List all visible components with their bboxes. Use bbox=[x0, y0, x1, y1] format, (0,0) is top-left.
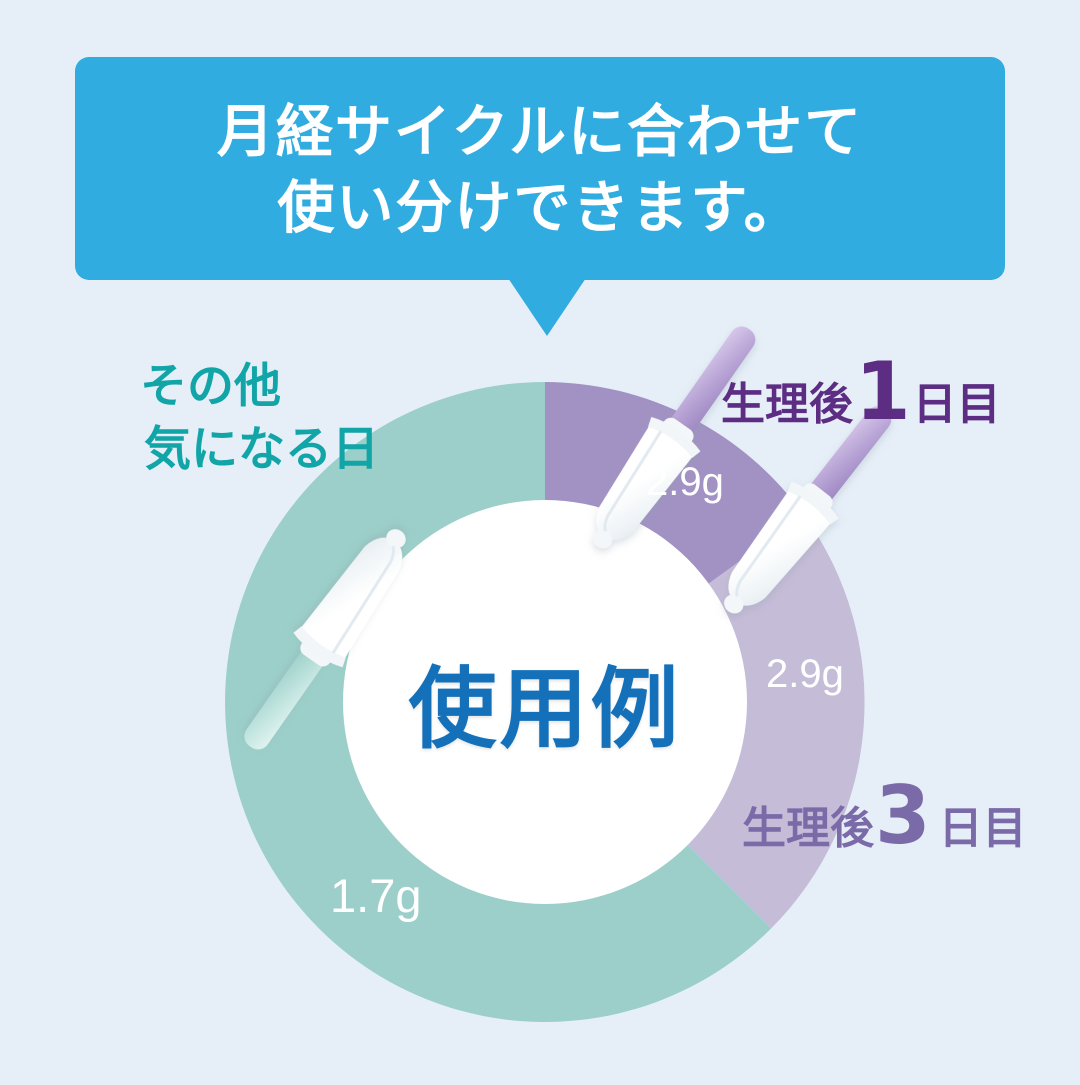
category-label-other-line2: 気になる日 bbox=[140, 419, 379, 482]
category-label-day1-prefix: 生理後 bbox=[721, 368, 853, 432]
category-label-day3: 生理後 3 日目 bbox=[735, 782, 1027, 856]
value-label-other: 1.7g bbox=[330, 868, 421, 923]
category-label-day3-suffix: 日目 bbox=[932, 792, 1027, 856]
category-label-day1-suffix: 日目 bbox=[913, 368, 1001, 432]
category-label-day1-number: 1 bbox=[853, 358, 913, 426]
value-label-day1: 2.9g bbox=[646, 460, 724, 505]
category-label-day1: 生理後 1 日目 bbox=[721, 358, 1001, 432]
infographic-canvas: 月経サイクルに合わせて 使い分けできます。 bbox=[0, 0, 1080, 1080]
category-label-day3-prefix: 生理後 bbox=[735, 792, 874, 856]
category-label-other: その他 気になる日 bbox=[140, 356, 379, 481]
donut-chart: 使用例 bbox=[0, 0, 1080, 1080]
category-label-other-line1: その他 bbox=[140, 356, 379, 419]
category-label-day3-number: 3 bbox=[874, 782, 932, 850]
chart-center-label: 使用例 bbox=[408, 639, 681, 766]
value-label-day3: 2.9g bbox=[766, 652, 844, 697]
donut-chart-svg bbox=[0, 0, 1080, 1080]
